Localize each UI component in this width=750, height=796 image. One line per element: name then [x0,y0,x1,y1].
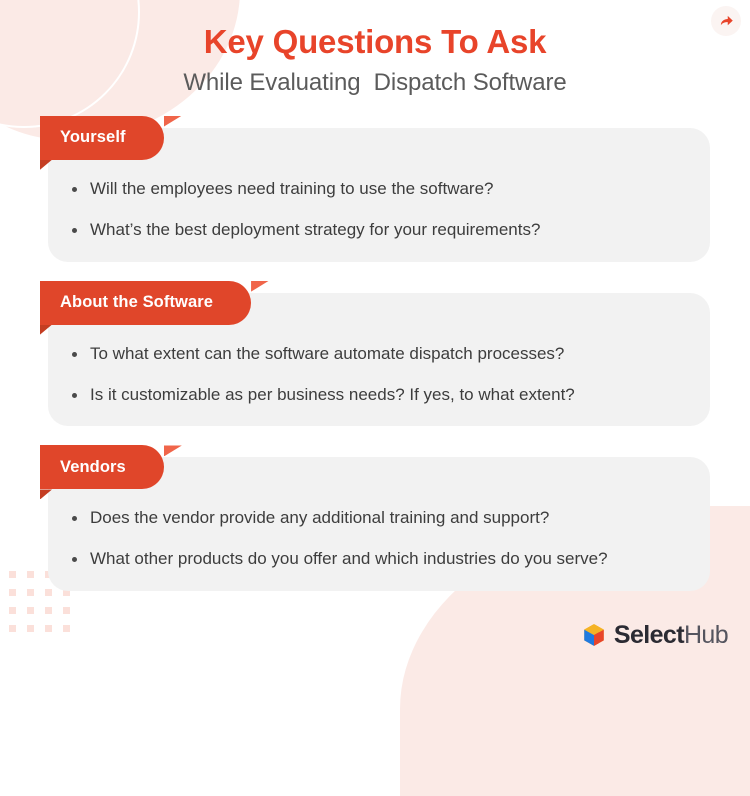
section-ribbon: Yourself [0,116,750,160]
section-about-the-software: About the Software To what extent can th… [0,281,750,427]
list-item: Does the vendor provide any additional t… [72,507,710,530]
page-title: Key Questions To Ask [0,23,750,62]
list-item: To what extent can the software automate… [72,343,710,366]
question-list: To what extent can the software automate… [0,325,750,427]
list-item: Is it customizable as per business needs… [72,384,710,407]
ribbon-fold-tail-icon [251,281,269,292]
question-list: Will the employees need training to use … [0,160,750,262]
list-item: What other products do you offer and whi… [72,548,710,571]
selecthub-cube-icon [581,622,607,648]
section-label: About the Software [60,293,213,312]
logo-word-light: Hub [684,621,728,649]
section-label: Yourself [60,128,126,147]
question-sections: Yourself Will the employees need trainin… [0,116,750,592]
header: Key Questions To Ask While Evaluating Di… [0,0,750,98]
section-vendors: Vendors Does the vendor provide any addi… [0,445,750,591]
selecthub-logo: SelectHub [581,622,728,648]
list-item: Will the employees need training to use … [72,178,710,201]
list-item: What’s the best deployment strategy for … [72,219,710,242]
ribbon-fold-tail-icon [164,116,182,127]
logo-word-bold: Select [614,621,684,649]
section-yourself: Yourself Will the employees need trainin… [0,116,750,262]
ribbon-fold-tail-icon [164,445,182,456]
section-ribbon-body: About the Software [40,281,251,325]
section-label: Vendors [60,458,126,477]
section-ribbon: Vendors [0,445,750,489]
question-list: Does the vendor provide any additional t… [0,489,750,591]
section-ribbon-body: Vendors [40,445,164,489]
section-ribbon: About the Software [0,281,750,325]
section-ribbon-body: Yourself [40,116,164,160]
logo-wordmark: SelectHub [614,623,728,648]
page-subtitle: While Evaluating Dispatch Software [0,69,750,98]
